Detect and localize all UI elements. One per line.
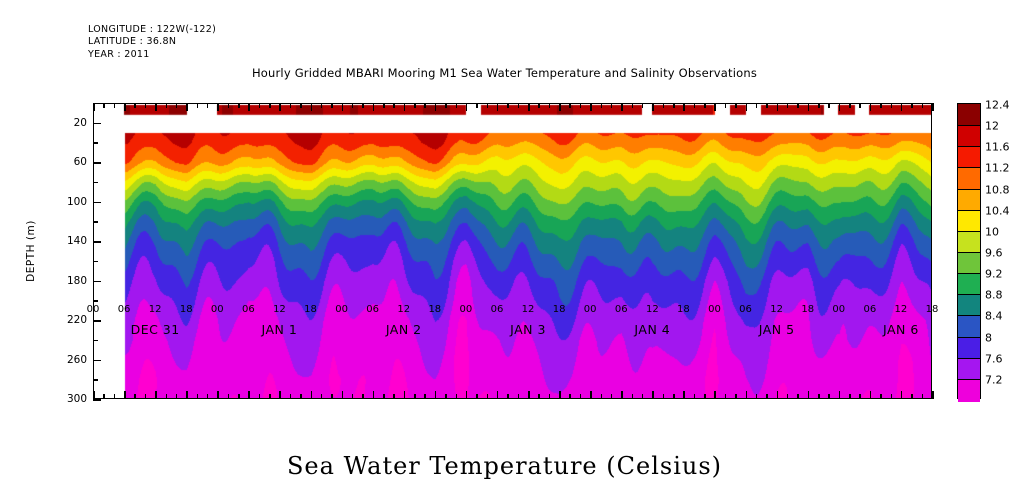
x-day-label: JAN 5 xyxy=(759,322,795,337)
x-tick-top xyxy=(704,103,706,108)
x-tick xyxy=(621,391,623,399)
x-tick xyxy=(538,394,540,399)
x-tick xyxy=(393,394,395,399)
x-tick-top xyxy=(404,103,406,111)
colorbar-band xyxy=(958,273,980,296)
colorbar-band xyxy=(958,104,980,126)
x-tick xyxy=(518,394,520,399)
x-tick-top xyxy=(549,103,551,108)
y-tick xyxy=(93,182,98,184)
y-tick-label: 300 xyxy=(67,393,87,405)
x-tick-top xyxy=(114,103,116,108)
y-tick xyxy=(93,340,98,342)
x-tick xyxy=(435,391,437,399)
y-tick xyxy=(93,202,101,204)
x-hour-label: 06 xyxy=(366,304,379,315)
colorbar-tick-label: 10 xyxy=(985,225,999,238)
x-tick-top xyxy=(197,103,199,108)
colorbar-band xyxy=(958,294,980,317)
x-tick xyxy=(362,394,364,399)
x-tick xyxy=(559,391,561,399)
y-tick xyxy=(93,320,101,322)
x-tick-top xyxy=(300,103,302,108)
x-tick-top xyxy=(93,103,95,111)
x-tick xyxy=(932,391,934,399)
x-tick xyxy=(134,394,136,399)
colorbar-tick-label: 7.2 xyxy=(985,373,1003,386)
chart-title: Hourly Gridded MBARI Mooring M1 Sea Wate… xyxy=(0,66,1009,80)
x-hour-label: 06 xyxy=(242,304,255,315)
x-tick xyxy=(756,394,758,399)
colorbar-band xyxy=(958,125,980,148)
colorbar-tick-label: 9.6 xyxy=(985,247,1003,260)
colorbar-band xyxy=(958,315,980,338)
colorbar-band xyxy=(958,167,980,190)
x-tick-top xyxy=(797,103,799,108)
x-tick-top xyxy=(932,103,934,111)
y-tick xyxy=(93,241,101,243)
x-tick xyxy=(176,394,178,399)
x-tick-top xyxy=(777,103,779,111)
x-tick xyxy=(766,394,768,399)
plot-frame xyxy=(93,103,932,399)
x-tick-top xyxy=(518,103,520,108)
x-tick-top xyxy=(186,103,188,111)
x-tick-top xyxy=(217,103,219,111)
x-day-label: DEC 31 xyxy=(131,322,180,337)
x-tick-top xyxy=(259,103,261,108)
x-hour-label: 18 xyxy=(553,304,566,315)
x-tick xyxy=(311,391,313,399)
x-tick-top xyxy=(290,103,292,108)
x-tick-top xyxy=(663,103,665,108)
x-tick xyxy=(259,394,261,399)
x-tick xyxy=(725,394,727,399)
colorbar-tick-label: 8 xyxy=(985,331,992,344)
x-tick xyxy=(342,391,344,399)
x-tick xyxy=(828,394,830,399)
x-tick xyxy=(663,394,665,399)
x-tick xyxy=(279,391,281,399)
chart-caption: Sea Water Temperature (Celsius) xyxy=(0,452,1009,480)
x-hour-label: 00 xyxy=(87,304,100,315)
x-tick-top xyxy=(134,103,136,108)
x-tick xyxy=(321,394,323,399)
x-tick xyxy=(497,391,499,399)
y-tick xyxy=(93,142,98,144)
x-hour-label: 12 xyxy=(646,304,659,315)
x-tick xyxy=(642,394,644,399)
x-tick xyxy=(424,394,426,399)
x-tick xyxy=(777,391,779,399)
x-tick xyxy=(580,394,582,399)
x-tick xyxy=(445,394,447,399)
x-tick xyxy=(808,391,810,399)
x-tick-top xyxy=(528,103,530,111)
x-tick-top xyxy=(373,103,375,111)
x-tick xyxy=(746,391,748,399)
y-tick xyxy=(93,399,101,401)
x-tick xyxy=(217,391,219,399)
x-tick xyxy=(901,391,903,399)
x-tick-top xyxy=(818,103,820,108)
x-tick-top xyxy=(891,103,893,108)
y-tick-label: 180 xyxy=(67,275,87,287)
x-tick xyxy=(714,391,716,399)
x-tick-top xyxy=(456,103,458,108)
x-tick-top xyxy=(331,103,333,108)
x-tick-top xyxy=(901,103,903,111)
x-hour-label: 00 xyxy=(211,304,224,315)
x-day-label: JAN 2 xyxy=(386,322,422,337)
x-tick-top xyxy=(787,103,789,108)
x-tick-top xyxy=(362,103,364,108)
x-tick xyxy=(476,394,478,399)
x-tick-top xyxy=(103,103,105,108)
x-hour-label: 06 xyxy=(118,304,131,315)
x-tick-top xyxy=(911,103,913,108)
x-tick-top xyxy=(269,103,271,108)
x-day-label: JAN 6 xyxy=(883,322,919,337)
y-axis-title: DEPTH (m) xyxy=(25,220,37,282)
y-tick-label: 20 xyxy=(74,117,87,129)
x-tick xyxy=(507,394,509,399)
x-tick xyxy=(124,391,126,399)
x-day-label: JAN 4 xyxy=(634,322,670,337)
x-hour-label: 18 xyxy=(304,304,317,315)
x-tick xyxy=(797,394,799,399)
x-tick-top xyxy=(922,103,924,108)
colorbar-band xyxy=(958,252,980,275)
x-tick-top xyxy=(352,103,354,108)
y-tick-label: 260 xyxy=(67,354,87,366)
x-tick-top xyxy=(414,103,416,108)
x-tick xyxy=(238,394,240,399)
x-tick-top xyxy=(746,103,748,111)
y-tick-label: 140 xyxy=(67,235,87,247)
x-tick xyxy=(207,394,209,399)
colorbar-tick-label: 8.4 xyxy=(985,310,1003,323)
x-hour-label: 06 xyxy=(615,304,628,315)
x-tick-top xyxy=(849,103,851,108)
y-tick-label: 220 xyxy=(67,314,87,326)
colorbar-tick-label: 8.8 xyxy=(985,289,1003,302)
x-tick-top xyxy=(580,103,582,108)
x-tick-top xyxy=(828,103,830,108)
x-hour-label: 06 xyxy=(739,304,752,315)
x-tick xyxy=(331,394,333,399)
y-tick-label: 100 xyxy=(67,196,87,208)
x-tick xyxy=(456,394,458,399)
x-day-label: JAN 3 xyxy=(510,322,546,337)
x-tick xyxy=(735,394,737,399)
colorbar-tick-label: 11.6 xyxy=(985,141,1009,154)
x-tick-top xyxy=(487,103,489,108)
x-hour-label: 18 xyxy=(926,304,939,315)
x-tick xyxy=(880,394,882,399)
x-tick-top xyxy=(507,103,509,108)
x-tick xyxy=(818,394,820,399)
x-hour-label: 06 xyxy=(863,304,876,315)
x-tick xyxy=(787,394,789,399)
x-tick xyxy=(891,394,893,399)
x-tick-top xyxy=(145,103,147,108)
x-tick-top xyxy=(476,103,478,108)
colorbar-tick-label: 11.2 xyxy=(985,162,1009,175)
x-hour-label: 00 xyxy=(460,304,473,315)
x-hour-label: 12 xyxy=(770,304,783,315)
x-tick xyxy=(487,394,489,399)
x-tick-top xyxy=(859,103,861,108)
x-tick-top xyxy=(176,103,178,108)
x-tick xyxy=(269,394,271,399)
latitude-label: LATITUDE : 36.8N xyxy=(88,36,216,48)
x-tick-top xyxy=(435,103,437,111)
x-tick-top xyxy=(321,103,323,108)
x-tick xyxy=(611,394,613,399)
x-hour-label: 00 xyxy=(335,304,348,315)
x-tick-top xyxy=(673,103,675,108)
colorbar-band xyxy=(958,231,980,254)
x-tick-top xyxy=(808,103,810,111)
x-tick xyxy=(404,391,406,399)
x-hour-label: 18 xyxy=(677,304,690,315)
x-tick-top xyxy=(279,103,281,111)
x-tick-top xyxy=(632,103,634,108)
colorbar-band xyxy=(958,337,980,360)
x-tick xyxy=(466,391,468,399)
x-tick xyxy=(694,394,696,399)
y-tick xyxy=(93,221,98,223)
y-tick xyxy=(93,379,98,381)
x-tick xyxy=(870,391,872,399)
y-tick xyxy=(93,123,101,125)
colorbar-tick-label: 12 xyxy=(985,120,999,133)
x-tick-top xyxy=(383,103,385,108)
x-tick-top xyxy=(766,103,768,108)
colorbar xyxy=(957,103,981,399)
x-tick-top xyxy=(683,103,685,111)
x-tick xyxy=(414,394,416,399)
x-tick-top xyxy=(311,103,313,111)
x-tick-top xyxy=(342,103,344,111)
x-tick-top xyxy=(393,103,395,108)
x-tick-top xyxy=(466,103,468,111)
colorbar-band xyxy=(958,210,980,233)
x-day-label: JAN 1 xyxy=(262,322,298,337)
x-tick xyxy=(632,394,634,399)
colorbar-tick-label: 10.4 xyxy=(985,204,1009,217)
x-hour-label: 12 xyxy=(522,304,535,315)
metadata-block: LONGITUDE : 122W(-122) LATITUDE : 36.8N … xyxy=(88,24,216,61)
contour-plot: DEPTH (m) 2060100140180220260300 xyxy=(93,103,932,399)
x-tick-top xyxy=(590,103,592,111)
x-tick-top xyxy=(155,103,157,111)
x-tick-top xyxy=(559,103,561,111)
x-tick xyxy=(228,394,230,399)
x-tick-top xyxy=(228,103,230,108)
x-tick xyxy=(145,394,147,399)
y-tick xyxy=(93,281,101,283)
x-tick-top xyxy=(207,103,209,108)
x-hour-label: 12 xyxy=(149,304,162,315)
x-tick xyxy=(590,391,592,399)
colorbar-band xyxy=(958,379,980,402)
x-tick xyxy=(704,394,706,399)
x-hour-label: 18 xyxy=(180,304,193,315)
x-tick-top xyxy=(497,103,499,111)
x-tick-top xyxy=(424,103,426,108)
colorbar-tick-label: 9.2 xyxy=(985,268,1003,281)
x-tick xyxy=(186,391,188,399)
x-tick xyxy=(911,394,913,399)
x-tick-top xyxy=(238,103,240,108)
y-tick xyxy=(93,300,98,302)
x-tick-top xyxy=(124,103,126,111)
x-tick xyxy=(601,394,603,399)
x-hour-label: 00 xyxy=(708,304,721,315)
x-tick-top xyxy=(611,103,613,108)
colorbar-band xyxy=(958,146,980,169)
x-tick xyxy=(683,391,685,399)
x-tick xyxy=(528,391,530,399)
x-tick-top xyxy=(166,103,168,108)
y-tick-label: 60 xyxy=(74,156,87,168)
x-tick xyxy=(383,394,385,399)
x-tick-top xyxy=(445,103,447,108)
x-tick xyxy=(569,394,571,399)
x-tick xyxy=(922,394,924,399)
x-tick xyxy=(849,394,851,399)
x-tick xyxy=(373,391,375,399)
x-tick-top xyxy=(735,103,737,108)
colorbar-band xyxy=(958,189,980,212)
x-tick-top xyxy=(725,103,727,108)
colorbar-tick-label: 10.8 xyxy=(985,183,1009,196)
x-hour-label: 18 xyxy=(801,304,814,315)
longitude-label: LONGITUDE : 122W(-122) xyxy=(88,24,216,36)
x-tick xyxy=(166,394,168,399)
year-label: YEAR : 2011 xyxy=(88,49,216,61)
x-hour-label: 00 xyxy=(832,304,845,315)
x-hour-label: 06 xyxy=(491,304,504,315)
y-tick xyxy=(93,360,101,362)
x-tick xyxy=(859,394,861,399)
x-tick xyxy=(93,391,95,399)
x-tick xyxy=(103,394,105,399)
x-tick xyxy=(839,391,841,399)
colorbar-tick-label: 7.6 xyxy=(985,352,1003,365)
x-tick-top xyxy=(621,103,623,111)
x-tick-top xyxy=(756,103,758,108)
x-tick xyxy=(673,394,675,399)
x-tick xyxy=(248,391,250,399)
x-tick-top xyxy=(569,103,571,108)
x-tick-top xyxy=(652,103,654,111)
x-tick xyxy=(549,394,551,399)
y-tick xyxy=(93,162,101,164)
x-tick xyxy=(114,394,116,399)
x-tick-top xyxy=(880,103,882,108)
colorbar-band xyxy=(958,358,980,381)
x-tick-top xyxy=(642,103,644,108)
x-tick-top xyxy=(248,103,250,111)
x-tick-top xyxy=(839,103,841,111)
x-hour-label: 18 xyxy=(428,304,441,315)
x-tick-top xyxy=(538,103,540,108)
x-tick xyxy=(352,394,354,399)
x-tick xyxy=(300,394,302,399)
x-tick-top xyxy=(601,103,603,108)
x-hour-label: 12 xyxy=(397,304,410,315)
x-tick-top xyxy=(714,103,716,111)
x-tick xyxy=(652,391,654,399)
x-tick xyxy=(290,394,292,399)
x-tick xyxy=(197,394,199,399)
x-tick-top xyxy=(694,103,696,108)
x-hour-label: 00 xyxy=(584,304,597,315)
x-tick-top xyxy=(870,103,872,111)
x-hour-label: 12 xyxy=(273,304,286,315)
x-tick xyxy=(155,391,157,399)
y-tick xyxy=(93,261,98,263)
x-hour-label: 12 xyxy=(895,304,908,315)
colorbar-tick-label: 12.4 xyxy=(985,99,1009,112)
